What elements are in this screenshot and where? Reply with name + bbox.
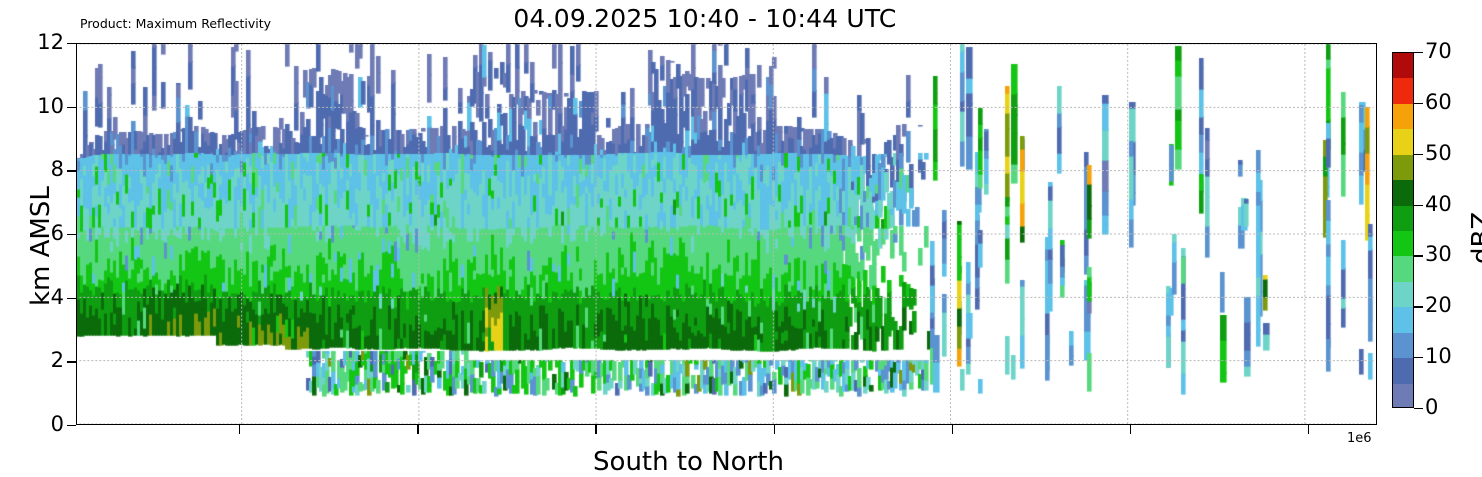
y-tick (67, 298, 76, 299)
y-tick (67, 425, 76, 426)
colorbar-segment (1393, 206, 1413, 231)
x-tick (417, 425, 418, 434)
colorbar-segment (1393, 256, 1413, 281)
x-axis-title: South to North (0, 447, 1377, 477)
y-axis-title: km AMSL (26, 186, 56, 306)
colorbar-tick (1414, 306, 1423, 307)
colorbar-segment (1393, 333, 1413, 358)
colorbar-tick-label: 50 (1425, 141, 1452, 165)
colorbar-segment (1393, 180, 1413, 205)
x-tick (1308, 425, 1309, 434)
colorbar-segment (1393, 358, 1413, 383)
colorbar-tick (1414, 103, 1423, 104)
y-tick-label: 2 (4, 348, 64, 372)
colorbar-tick-label: 30 (1425, 242, 1452, 266)
colorbar-segment (1393, 307, 1413, 332)
y-tick (67, 234, 76, 235)
colorbar-tick (1414, 52, 1423, 53)
y-tick-label: 8 (4, 157, 64, 181)
colorbar-segment (1393, 104, 1413, 129)
y-tick (67, 107, 76, 108)
colorbar-segment (1393, 384, 1413, 408)
colorbar-tick (1414, 408, 1423, 409)
x-tick (239, 425, 240, 434)
colorbar-tick-label: 20 (1425, 293, 1452, 317)
colorbar-segment (1393, 155, 1413, 180)
x-tick (1130, 425, 1131, 434)
colorbar-segment (1393, 78, 1413, 103)
colorbar-tick-label: 60 (1425, 90, 1452, 114)
colorbar-segment (1393, 231, 1413, 256)
x-tick (952, 425, 953, 434)
colorbar-tick (1414, 357, 1423, 358)
colorbar-segment (1393, 129, 1413, 154)
colorbar-tick-label: 70 (1425, 39, 1452, 63)
x-tick (595, 425, 596, 434)
colorbar-title: dBZ (1467, 212, 1482, 264)
y-tick (67, 170, 76, 171)
colorbar (1392, 52, 1414, 408)
colorbar-tick (1414, 255, 1423, 256)
x-axis-offset-label: 1e6 (1347, 431, 1372, 446)
colorbar-tick (1414, 154, 1423, 155)
y-tick (67, 43, 76, 44)
colorbar-tick-label: 0 (1425, 395, 1438, 419)
colorbar-tick (1414, 205, 1423, 206)
y-tick-label: 10 (4, 94, 64, 118)
colorbar-segment (1393, 282, 1413, 307)
x-tick (774, 425, 775, 434)
heatmap-canvas-host (77, 44, 1376, 424)
y-tick (67, 361, 76, 362)
reflectivity-cross-section-plot (76, 43, 1377, 425)
reflectivity-heatmap (77, 44, 1376, 424)
colorbar-tick-label: 40 (1425, 192, 1452, 216)
product-annotation: Product: Maximum Reflectivity (80, 16, 271, 31)
colorbar-tick-label: 10 (1425, 344, 1452, 368)
y-tick-label: 0 (4, 412, 64, 436)
colorbar-segment (1393, 53, 1413, 78)
y-tick-label: 12 (4, 30, 64, 54)
